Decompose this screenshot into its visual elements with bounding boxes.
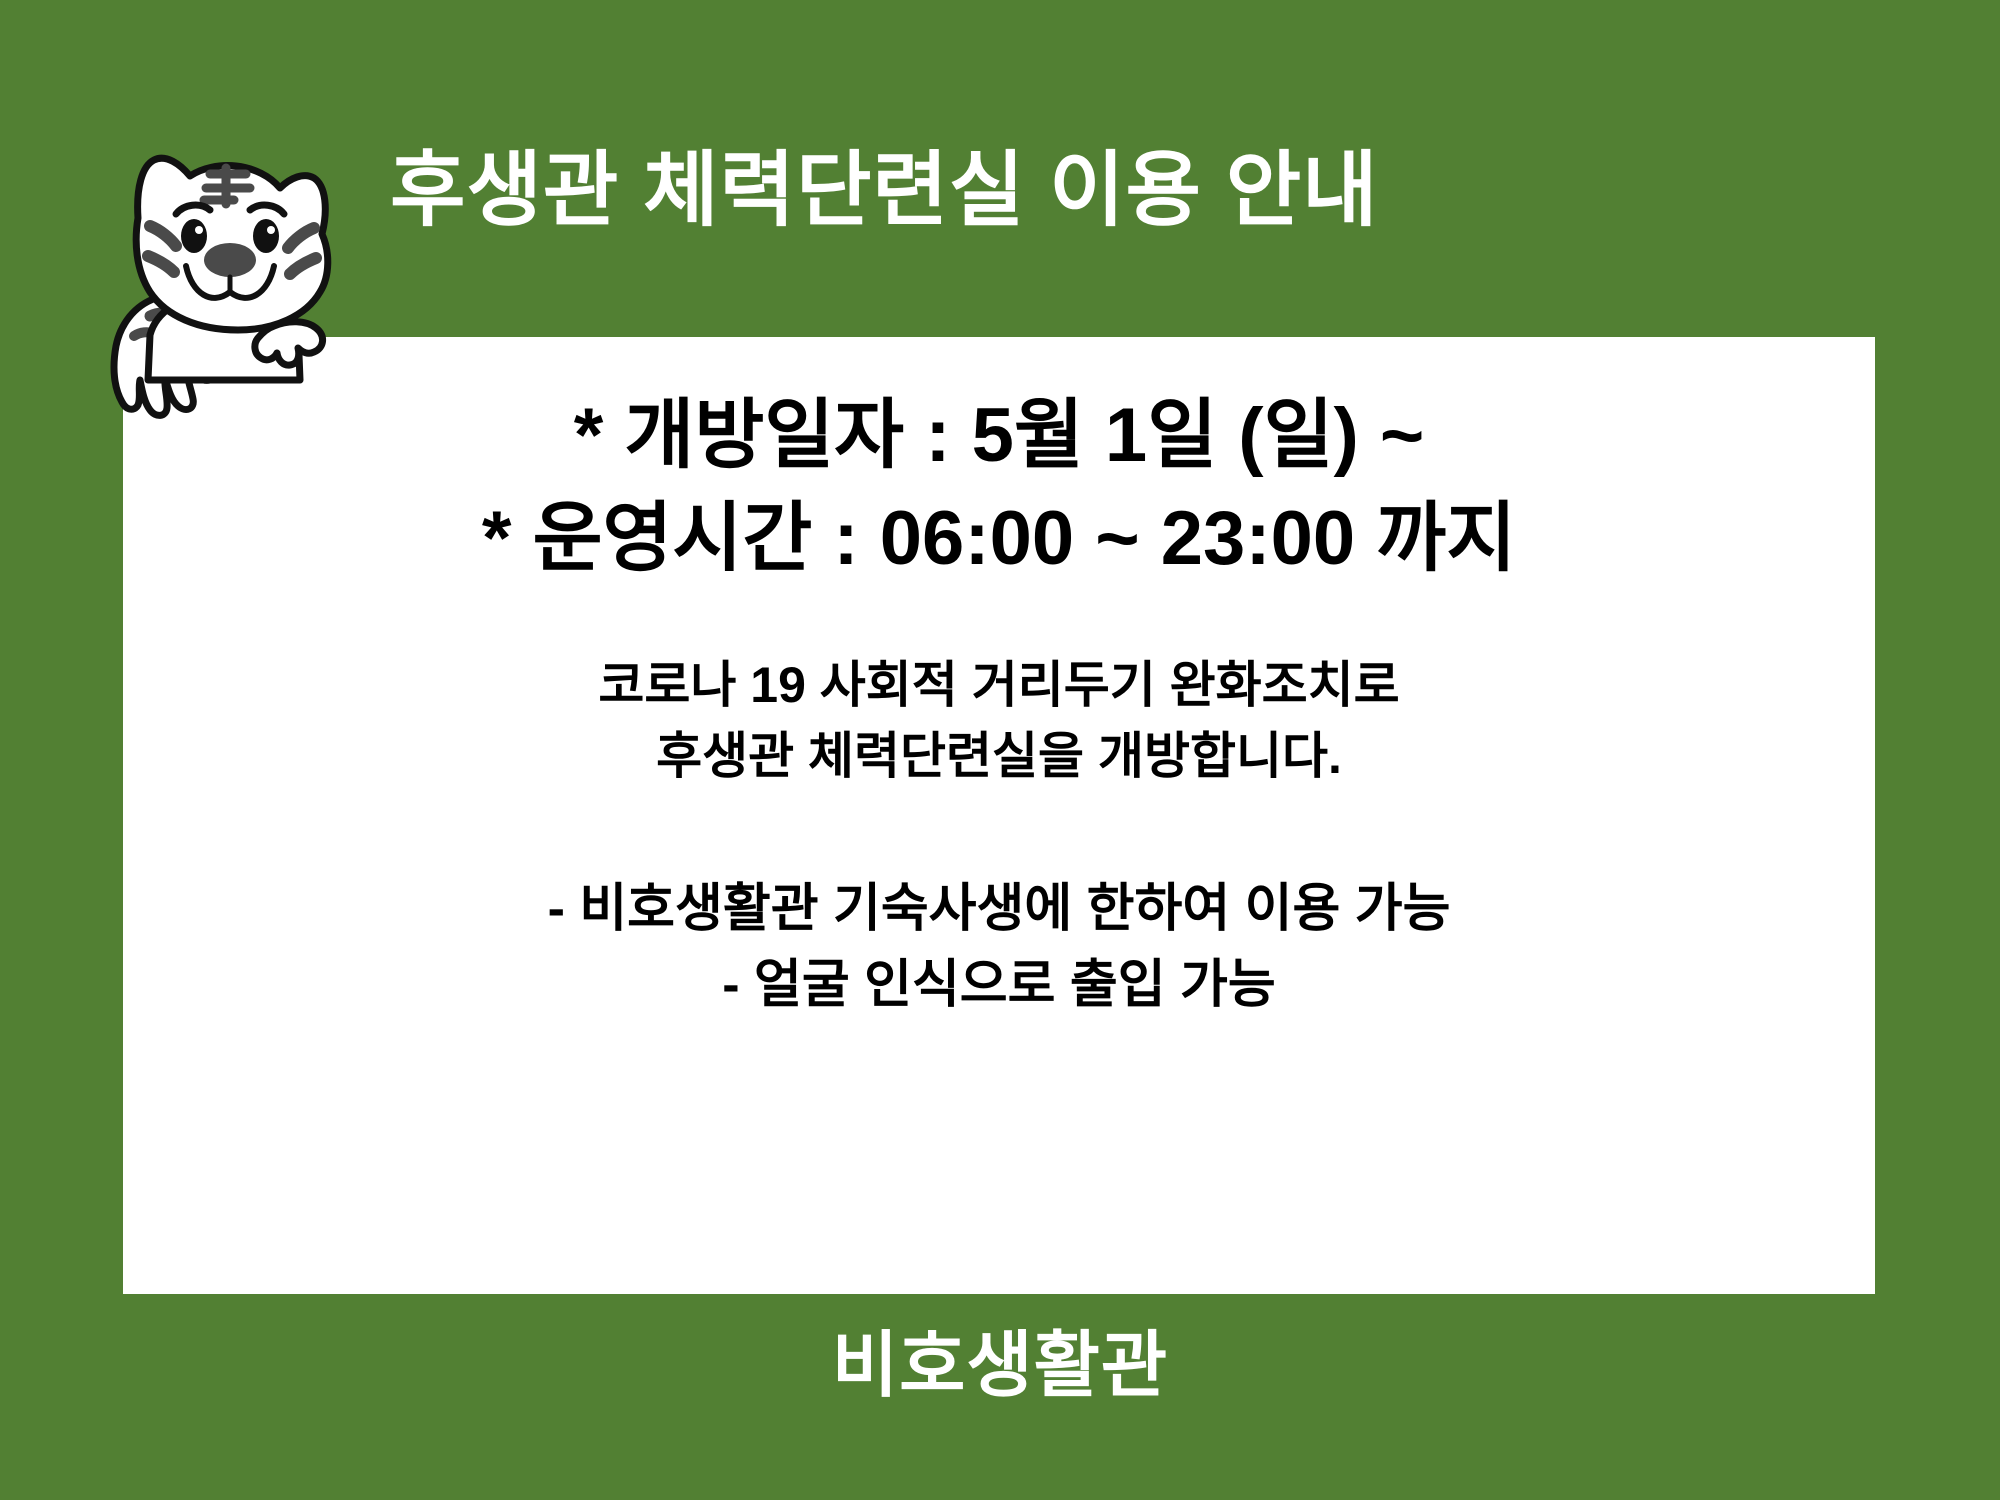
- bullet-item-residents-only: - 비호생활관 기숙사생에 한하여 이용 가능: [123, 872, 1875, 947]
- bullet-item-face-recognition: - 얼굴 인식으로 출입 가능: [123, 948, 1875, 1023]
- body-line-2: 후생관 체력단련실을 개방합니다.: [123, 721, 1875, 792]
- notice-card-inner: * 개방일자 : 5월 1일 (일) ~ * 운영시간 : 06:00 ~ 23…: [123, 337, 1875, 1294]
- body-line-1: 코로나 19 사회적 거리두기 완화조치로: [123, 650, 1875, 721]
- body-group: 코로나 19 사회적 거리두기 완화조치로 후생관 체력단련실을 개방합니다.: [123, 650, 1875, 792]
- poster-root: 후생관 체력단련실 이용 안내: [0, 0, 2000, 1500]
- headline-open-date: * 개방일자 : 5월 1일 (일) ~: [123, 385, 1875, 488]
- headline-operating-hours: * 운영시간 : 06:00 ~ 23:00 까지: [123, 488, 1875, 591]
- bullet-group: - 비호생활관 기숙사생에 한하여 이용 가능 - 얼굴 인식으로 출입 가능: [123, 872, 1875, 1023]
- headline-group: * 개방일자 : 5월 1일 (일) ~ * 운영시간 : 06:00 ~ 23…: [123, 385, 1875, 590]
- tiger-mascot-icon: [78, 130, 348, 420]
- page-title: 후생관 체력단련실 이용 안내: [390, 150, 1770, 232]
- footer-area: 비호생활관: [0, 1330, 2000, 1402]
- notice-card: * 개방일자 : 5월 1일 (일) ~ * 운영시간 : 06:00 ~ 23…: [123, 337, 1875, 1294]
- footer-organization-name: 비호생활관: [0, 1330, 2000, 1402]
